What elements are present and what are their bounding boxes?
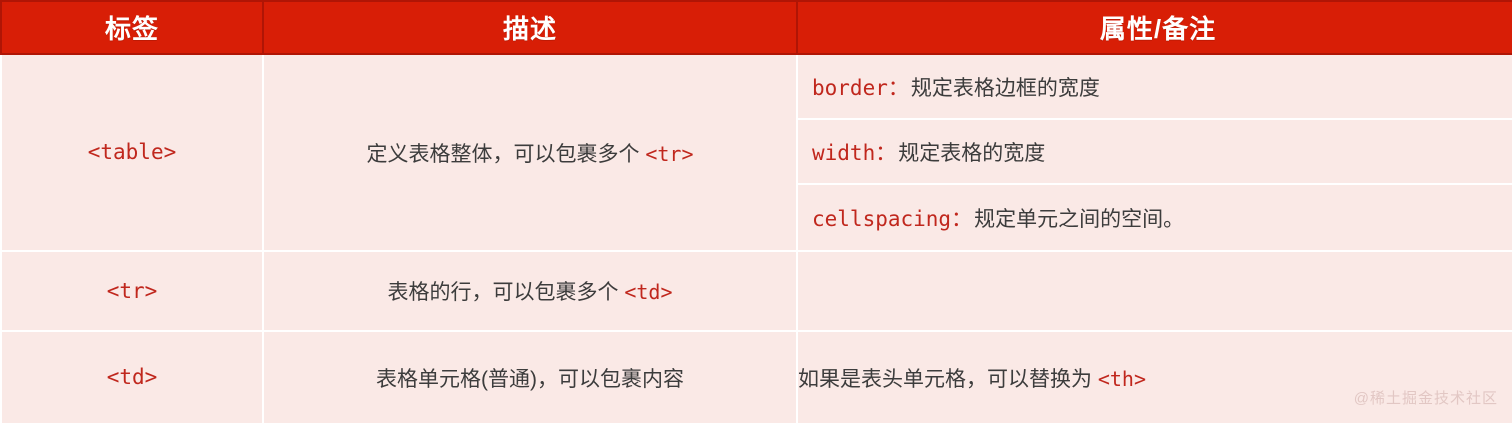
column-header-tag: 标签	[1, 1, 263, 54]
column-header-description: 描述	[263, 1, 797, 54]
tag-name-tr: <tr>	[107, 279, 158, 303]
html-tag-reference-table: 标签 描述 属性/备注 <table> 定义表格整体，可以包裹多个 <tr> b…	[0, 0, 1512, 425]
cell-attributes-table: border：规定表格边框的宽度 width：规定表格的宽度 cellspaci…	[797, 54, 1512, 251]
tag-name-table: <table>	[88, 140, 177, 164]
description-text: 定义表格整体，可以包裹多个	[366, 143, 645, 166]
cell-description-tr: 表格的行，可以包裹多个 <td>	[263, 251, 797, 331]
inline-code-tr: <tr>	[645, 142, 693, 166]
tag-name-td: <td>	[107, 365, 158, 389]
attribute-note-text: 如果是表头单元格，可以替换为	[798, 368, 1098, 391]
description-text: 表格单元格(普通)，可以包裹内容	[376, 368, 684, 391]
attribute-list: border：规定表格边框的宽度 width：规定表格的宽度 cellspaci…	[798, 55, 1512, 250]
attribute-item-width: width：规定表格的宽度	[798, 120, 1512, 185]
table-row: <tr> 表格的行，可以包裹多个 <td>	[1, 251, 1512, 331]
inline-code-td: <td>	[624, 280, 672, 304]
table-row: <td> 表格单元格(普通)，可以包裹内容 如果是表头单元格，可以替换为 <th…	[1, 331, 1512, 424]
column-header-attributes: 属性/备注	[797, 1, 1512, 54]
cell-description-table: 定义表格整体，可以包裹多个 <tr>	[263, 54, 797, 251]
attribute-value: 规定表格边框的宽度	[911, 72, 1100, 102]
attribute-key: width：	[812, 137, 896, 167]
description-text: 表格的行，可以包裹多个	[387, 281, 624, 304]
inline-code-th: <th>	[1098, 367, 1146, 391]
table-header-row: 标签 描述 属性/备注	[1, 1, 1512, 54]
attribute-item-cellspacing: cellspacing：规定单元之间的空间。	[798, 185, 1512, 250]
attribute-item-border: border：规定表格边框的宽度	[798, 55, 1512, 120]
table-row: <table> 定义表格整体，可以包裹多个 <tr> border：规定表格边框…	[1, 54, 1512, 251]
cell-tag-td: <td>	[1, 331, 263, 424]
table-header: 标签 描述 属性/备注	[1, 1, 1512, 54]
cell-tag-table: <table>	[1, 54, 263, 251]
cell-tag-tr: <tr>	[1, 251, 263, 331]
cell-description-td: 表格单元格(普通)，可以包裹内容	[263, 331, 797, 424]
cell-attributes-td: 如果是表头单元格，可以替换为 <th>	[797, 331, 1512, 424]
attribute-key: cellspacing：	[812, 203, 972, 233]
table-body: <table> 定义表格整体，可以包裹多个 <tr> border：规定表格边框…	[1, 54, 1512, 424]
attribute-value: 规定单元之间的空间。	[974, 203, 1184, 233]
table-container: 标签 描述 属性/备注 <table> 定义表格整体，可以包裹多个 <tr> b…	[0, 0, 1512, 418]
cell-attributes-tr	[797, 251, 1512, 331]
attribute-key: border：	[812, 72, 909, 102]
attribute-value: 规定表格的宽度	[898, 137, 1045, 167]
